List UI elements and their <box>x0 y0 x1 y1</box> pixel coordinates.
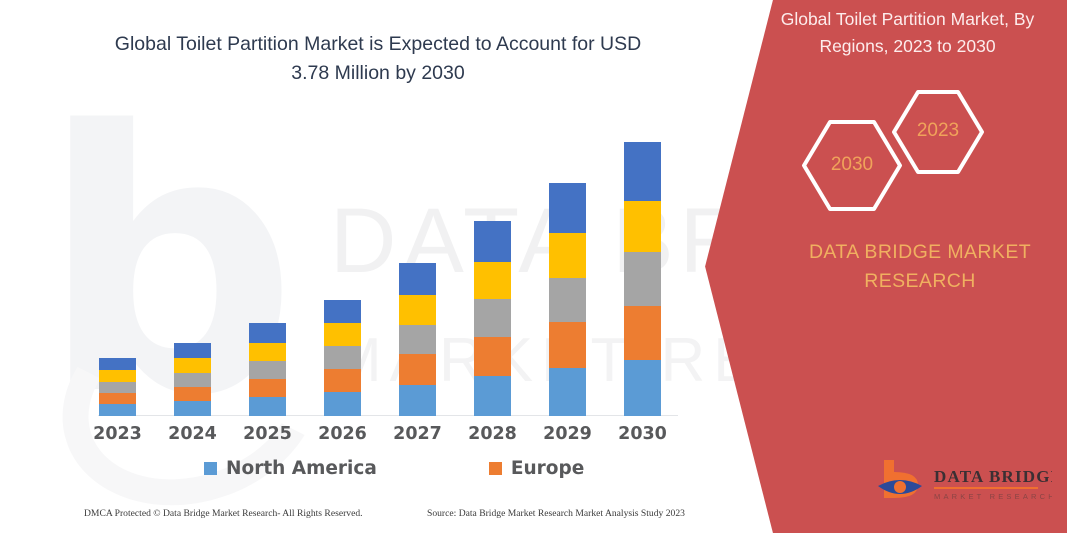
chart-legend: North AmericaEurope <box>110 454 670 482</box>
x-tick-2023: 2023 <box>80 424 155 448</box>
bar-segment-south-america <box>174 358 211 373</box>
bar-slot <box>455 122 530 416</box>
x-tick-2024: 2024 <box>155 424 230 448</box>
bar-segment-south-america <box>249 343 286 362</box>
stacked-bar-2029 <box>549 183 586 416</box>
bar-segment-north-america <box>99 404 136 416</box>
footer-dmca-text: DMCA Protected © Data Bridge Market Rese… <box>84 508 363 519</box>
bar-segment-north-america <box>399 385 436 416</box>
chart-title: Global Toilet Partition Market is Expect… <box>108 30 648 88</box>
stacked-bar-2027 <box>399 263 436 416</box>
legend-swatch-icon <box>204 462 217 475</box>
chart-plot-area <box>80 120 680 416</box>
x-axis-tick-labels: 20232024202520262027202820292030 <box>80 424 680 448</box>
bar-segment-europe <box>249 379 286 398</box>
x-tick-2029: 2029 <box>530 424 605 448</box>
panel-brand-text: DATA BRIDGE MARKET RESEARCH <box>790 238 1050 296</box>
bar-segment-middle-east-and-africa <box>399 263 436 294</box>
bar-segment-middle-east-and-africa <box>249 323 286 343</box>
hexagon-2023: 2023 <box>890 88 986 176</box>
bar-segment-asia-pacific <box>399 325 436 354</box>
bar-slot <box>380 122 455 416</box>
legend-label: Europe <box>511 458 584 479</box>
hexagon-2023-label: 2023 <box>890 120 986 142</box>
stacked-bar-2023 <box>99 358 136 416</box>
bar-segment-asia-pacific <box>549 278 586 322</box>
stacked-bar-2026 <box>324 300 361 416</box>
stacked-bar-2024 <box>174 343 211 416</box>
x-tick-2027: 2027 <box>380 424 455 448</box>
bar-slot <box>155 122 230 416</box>
hexagon-2030-label: 2030 <box>800 154 904 176</box>
bar-segment-middle-east-and-africa <box>99 358 136 370</box>
bar-segment-asia-pacific <box>624 252 661 306</box>
bar-slot <box>605 122 680 416</box>
footer: DMCA Protected © Data Bridge Market Rese… <box>0 508 700 530</box>
bar-segment-south-america <box>474 262 511 299</box>
bar-segment-south-america <box>99 370 136 382</box>
bar-segment-middle-east-and-africa <box>174 343 211 359</box>
legend-swatch-icon <box>489 462 502 475</box>
footer-source-text: Source: Data Bridge Market Research Mark… <box>427 508 685 519</box>
bar-segment-europe <box>99 393 136 405</box>
data-bridge-logo-icon: DATA BRIDGE MARKET RESEARCH <box>872 458 1052 506</box>
bar-segment-asia-pacific <box>249 361 286 379</box>
legend-label: North America <box>226 458 377 479</box>
svg-text:MARKET RESEARCH: MARKET RESEARCH <box>934 492 1052 501</box>
bar-segment-middle-east-and-africa <box>324 300 361 323</box>
bar-segment-europe <box>399 354 436 384</box>
bar-segment-europe <box>174 387 211 402</box>
x-tick-2026: 2026 <box>305 424 380 448</box>
bar-segment-north-america <box>624 360 661 416</box>
bar-segment-north-america <box>249 397 286 416</box>
bar-slot <box>80 122 155 416</box>
bar-segment-asia-pacific <box>174 373 211 387</box>
hexagon-group: 2030 2023 <box>800 88 1040 213</box>
bar-slot <box>230 122 305 416</box>
bar-segment-europe <box>549 322 586 368</box>
bar-segment-north-america <box>324 392 361 416</box>
bar-segment-north-america <box>174 401 211 416</box>
bar-segment-asia-pacific <box>324 346 361 369</box>
bar-group <box>80 122 680 416</box>
stacked-bar-2030 <box>624 142 661 416</box>
stacked-bar-2028 <box>474 221 511 416</box>
bar-slot <box>530 122 605 416</box>
x-tick-2025: 2025 <box>230 424 305 448</box>
bar-segment-north-america <box>549 368 586 416</box>
bar-slot <box>305 122 380 416</box>
hexagon-2030: 2030 <box>800 118 904 213</box>
data-bridge-logo: DATA BRIDGE MARKET RESEARCH <box>872 458 1052 506</box>
bar-segment-europe <box>474 337 511 376</box>
x-tick-2030: 2030 <box>605 424 680 448</box>
bar-segment-europe <box>624 306 661 360</box>
bar-segment-middle-east-and-africa <box>549 183 586 233</box>
bar-segment-south-america <box>624 201 661 252</box>
bar-segment-north-america <box>474 376 511 416</box>
bar-segment-middle-east-and-africa <box>624 142 661 202</box>
infographic-canvas: b DATA BRIDGE MARKET RESEARCH Global Toi… <box>0 0 1067 533</box>
bar-segment-asia-pacific <box>474 299 511 336</box>
bar-segment-south-america <box>399 295 436 325</box>
stacked-bar-2025 <box>249 323 286 416</box>
bar-segment-south-america <box>324 323 361 347</box>
bar-segment-asia-pacific <box>99 382 136 393</box>
bar-segment-middle-east-and-africa <box>474 221 511 262</box>
legend-item-north-america[interactable]: North America <box>204 458 377 479</box>
legend-item-europe[interactable]: Europe <box>489 458 584 479</box>
bar-segment-europe <box>324 369 361 393</box>
x-tick-2028: 2028 <box>455 424 530 448</box>
svg-text:DATA BRIDGE: DATA BRIDGE <box>934 467 1052 486</box>
bar-segment-south-america <box>549 233 586 278</box>
panel-title: Global Toilet Partition Market, By Regio… <box>770 6 1045 60</box>
